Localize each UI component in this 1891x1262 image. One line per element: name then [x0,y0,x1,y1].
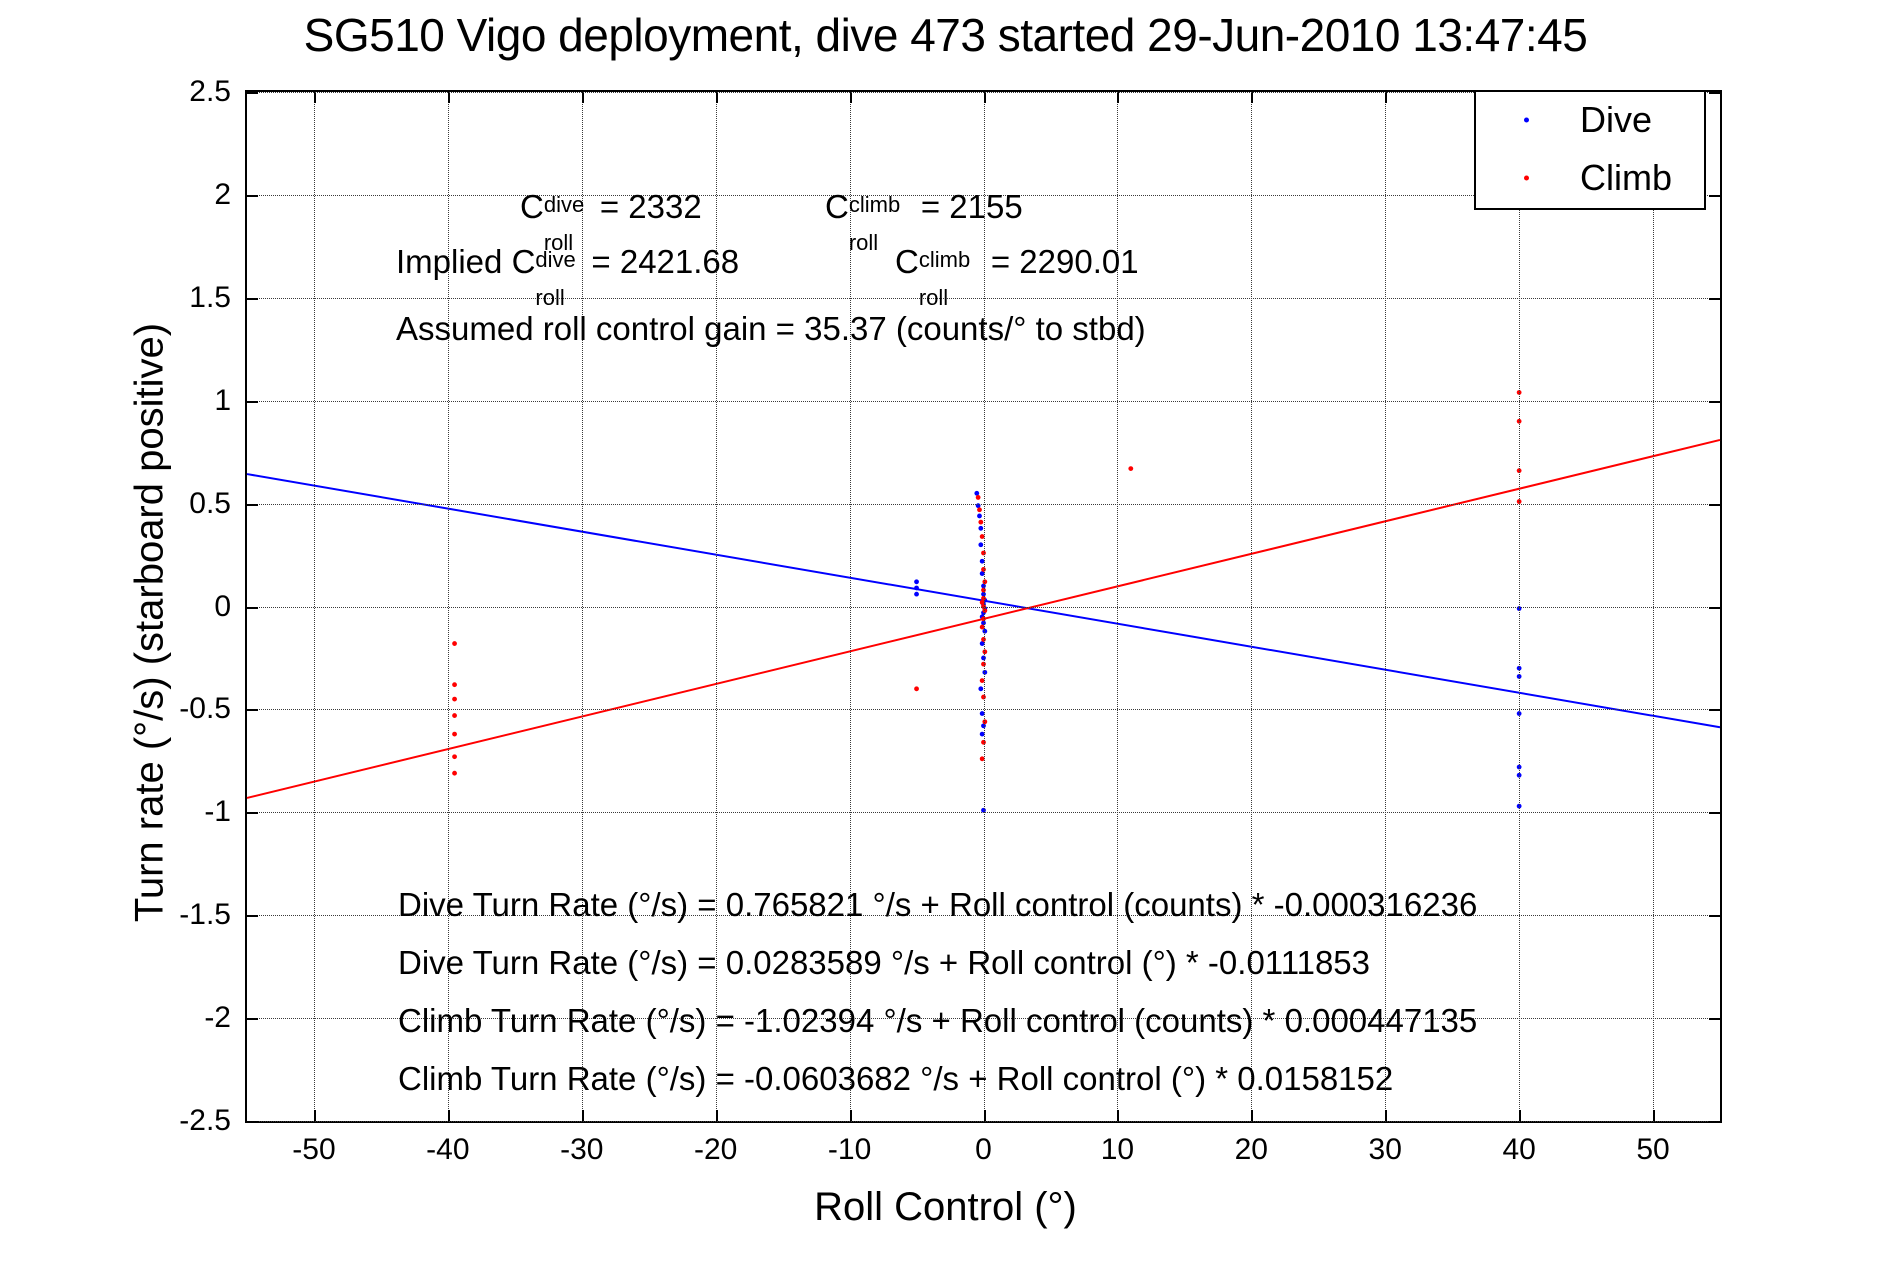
legend-item-dive[interactable]: Dive [1476,96,1708,144]
y-tick-mark [247,92,258,94]
y-tick-label: 0 [123,590,231,624]
y-tick-mark [247,607,258,609]
y-tick-mark [1709,92,1720,94]
grid-line-horizontal [247,401,1720,402]
x-tick-label: 0 [975,1133,992,1167]
implied-dive-subscript: roll [535,285,564,311]
data-point-dive [914,586,919,591]
data-point-climb [452,713,457,718]
grid-line-horizontal [247,607,1720,608]
x-tick-mark [716,1110,718,1121]
y-tick-label: 1 [123,384,231,418]
y-tick-label: 2 [123,178,231,212]
legend-item-climb[interactable]: Climb [1476,154,1708,202]
x-tick-label: 20 [1235,1133,1268,1167]
implied-climb-value: = 2290.01 [991,243,1139,280]
data-point-dive [978,686,983,691]
annotation-implied-climb: C climb roll = 2290.01 [895,243,1139,281]
equation-line: Dive Turn Rate (°/s) = 0.765821 °/s + Ro… [398,876,1477,934]
data-point-dive [978,542,983,547]
equation-line: Climb Turn Rate (°/s) = -0.0603682 °/s +… [398,1050,1477,1108]
equation-line: Climb Turn Rate (°/s) = -1.02394 °/s + R… [398,992,1477,1050]
data-point-climb [452,754,457,759]
x-tick-mark [850,92,852,103]
data-point-climb [976,495,981,500]
x-tick-mark [716,92,718,103]
equation-line: Dive Turn Rate (°/s) = 0.0283589 °/s + R… [398,934,1477,992]
x-tick-mark [984,1110,986,1121]
y-tick-mark [1709,812,1720,814]
y-tick-mark [247,915,258,917]
data-point-climb [452,641,457,646]
y-tick-mark [247,709,258,711]
y-tick-mark [1709,709,1720,711]
implied-climb-subscript: roll [919,285,948,311]
annotation-implied-dive: Implied C dive roll = 2421.68 [396,243,739,281]
y-tick-label: -2 [123,1001,231,1035]
y-tick-mark [247,195,258,197]
x-tick-mark [984,92,986,103]
y-tick-label: -2.5 [123,1104,231,1138]
c-climb-symbol: C [825,188,849,226]
legend-marker-dive [1524,118,1529,123]
x-tick-label: -30 [560,1133,603,1167]
x-tick-mark [1117,92,1119,103]
grid-line-horizontal [247,709,1720,710]
y-tick-mark [1709,195,1720,197]
data-point-dive [914,592,919,597]
c-climb-superscript: climb [849,192,900,218]
x-tick-mark [1117,1110,1119,1121]
data-point-climb [977,507,982,512]
c-climb-value: = 2155 [921,188,1023,225]
x-tick-mark [1385,1110,1387,1121]
legend: Dive Climb [1474,90,1706,210]
x-tick-label: -10 [828,1133,871,1167]
x-tick-mark [1519,1110,1521,1121]
figure-root: SG510 Vigo deployment, dive 473 started … [0,0,1891,1262]
y-tick-mark [247,504,258,506]
y-tick-mark [247,1018,258,1020]
x-tick-label: 10 [1101,1133,1134,1167]
x-tick-mark [850,1110,852,1121]
x-tick-label: -50 [292,1133,335,1167]
x-tick-label: 50 [1636,1133,1669,1167]
legend-label-dive: Dive [1580,99,1652,141]
implied-dive-value: = 2421.68 [591,243,739,280]
grid-line-horizontal [247,504,1720,505]
x-tick-label: -40 [426,1133,469,1167]
annotation-c-climb: C climb roll = 2155 [825,188,1023,226]
x-tick-mark [314,92,316,103]
c-climb-subscript: roll [849,230,878,256]
implied-dive-symbol: C [512,243,536,281]
y-tick-mark [1709,1121,1720,1123]
c-dive-superscript: dive [544,192,584,218]
y-tick-mark [247,1121,258,1123]
grid-line-horizontal [247,298,1720,299]
x-tick-label: 30 [1369,1133,1402,1167]
y-tick-label: 1.5 [123,281,231,315]
x-tick-mark [1385,92,1387,103]
legend-label-climb: Climb [1580,157,1672,199]
implied-climb-superscript: climb [919,247,970,273]
implied-prefix: Implied [396,243,502,280]
data-point-climb [452,732,457,737]
y-tick-mark [247,298,258,300]
y-tick-label: -0.5 [123,692,231,726]
equation-block: Dive Turn Rate (°/s) = 0.765821 °/s + Ro… [398,876,1477,1108]
y-tick-label: -1.5 [123,898,231,932]
data-point-dive [978,526,983,531]
annotation-c-dive: C dive roll = 2332 [520,188,702,226]
y-tick-mark [247,812,258,814]
x-tick-mark [582,92,584,103]
chart-title: SG510 Vigo deployment, dive 473 started … [0,8,1891,62]
data-point-climb [452,682,457,687]
data-point-climb [978,520,983,525]
grid-line-horizontal [247,812,1720,813]
x-tick-mark [1251,1110,1253,1121]
c-dive-symbol: C [520,188,544,226]
y-tick-label: 0.5 [123,487,231,521]
y-tick-label: -1 [123,795,231,829]
data-point-climb [452,771,457,776]
y-tick-mark [1709,401,1720,403]
c-dive-value: = 2332 [600,188,702,225]
y-tick-label: 2.5 [123,75,231,109]
implied-dive-superscript: dive [535,247,575,273]
data-point-dive [977,514,982,519]
x-tick-mark [314,1110,316,1121]
x-axis-title: Roll Control (°) [0,1185,1891,1230]
data-point-climb [452,697,457,702]
y-tick-mark [247,401,258,403]
y-tick-mark [1709,607,1720,609]
data-point-dive [974,491,979,496]
x-tick-mark [1653,1110,1655,1121]
data-point-dive [914,579,919,584]
y-tick-mark [1709,1018,1720,1020]
implied-climb-symbol: C [895,243,919,281]
y-tick-mark [1709,298,1720,300]
x-tick-mark [1251,92,1253,103]
annotation-gain: Assumed roll control gain = 35.37 (count… [396,310,1146,348]
x-tick-label: 40 [1502,1133,1535,1167]
x-tick-mark [448,1110,450,1121]
x-tick-mark [448,92,450,103]
data-point-climb [1128,466,1133,471]
x-tick-mark [582,1110,584,1121]
legend-marker-climb [1524,176,1529,181]
grid-line-horizontal [247,1121,1720,1122]
y-tick-mark [1709,504,1720,506]
y-tick-mark [1709,915,1720,917]
data-point-climb [914,686,919,691]
x-tick-label: -20 [694,1133,737,1167]
